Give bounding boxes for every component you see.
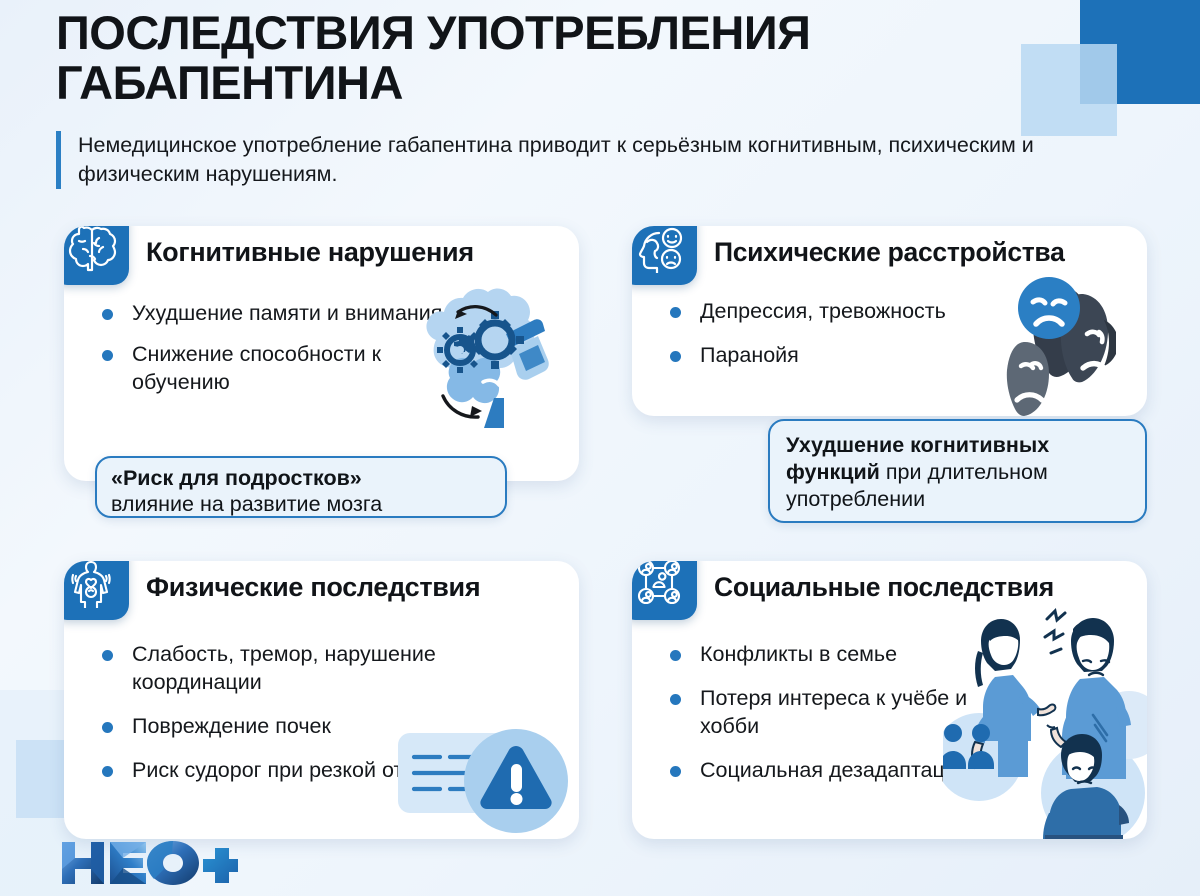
callout-teen-rest: влияние на развитие мозга [111,492,382,516]
neo-plus-logo [60,840,238,886]
card-title-cognitive: Когнитивные нарушения [146,238,565,268]
list-item: Потеря интереса к учёбе и хобби [670,685,970,741]
brain-icon [64,226,129,285]
card-title-mental: Психические расстройства [714,238,1133,267]
points-list-physical: Слабость, тремор, нарушение координации … [102,641,569,801]
list-item: Ухудшение памяти и внимания [102,300,462,328]
card-title-social: Социальные последствия [714,573,1133,602]
page-title: ПОСЛЕДСТВИЯ УПОТРЕБЛЕНИЯ ГАБАПЕНТИНА [56,8,1056,109]
callout-teen-bold: «Риск для подростков» [111,466,362,490]
points-list-cognitive: Ухудшение памяти и внимания Снижение спо… [102,300,569,410]
list-item: Конфликты в семье [670,641,970,669]
list-item: Депрессия, тревожность [670,298,1030,326]
callout-teen-risk: «Риск для подростков» влияние на развити… [95,456,507,518]
list-item: Снижение способности к обучению [102,341,462,397]
card-cognitive: Когнитивные нарушения Ухудшение памяти и… [64,226,579,481]
card-physical: Физические последствия Слабость, тремор,… [64,561,579,839]
body-organs-icon [64,561,129,620]
subtitle-block: Немедицинское употребление габапентина п… [56,131,1056,190]
points-list-mental: Депрессия, тревожность Паранойя [670,298,1137,386]
list-item: Паранойя [670,342,1030,370]
logo-mark [60,840,238,886]
list-item: Социальная дезадаптация [670,757,970,785]
people-network-icon [632,561,697,620]
list-item: Риск судорог при резкой отмене [102,757,472,785]
card-mental: Психические расстройства Депрессия, трев… [632,226,1147,416]
infographic-page: ПОСЛЕДСТВИЯ УПОТРЕБЛЕНИЯ ГАБАПЕНТИНА Нем… [0,0,1200,896]
header: ПОСЛЕДСТВИЯ УПОТРЕБЛЕНИЯ ГАБАПЕНТИНА Нем… [56,8,1056,189]
card-title-physical: Физические последствия [146,573,565,603]
list-item: Слабость, тремор, нарушение координации [102,641,472,697]
card-social: Социальные последствия Конфликты в семье… [632,561,1147,839]
points-list-social: Конфликты в семье Потеря интереса к учёб… [670,641,1137,801]
list-item: Повреждение почек [102,713,472,741]
callout-cognitive-decline: Ухудшение когнитивных функций при длител… [768,419,1147,523]
head-emotions-icon [632,226,697,285]
page-subtitle: Немедицинское употребление габапентина п… [78,131,1056,190]
